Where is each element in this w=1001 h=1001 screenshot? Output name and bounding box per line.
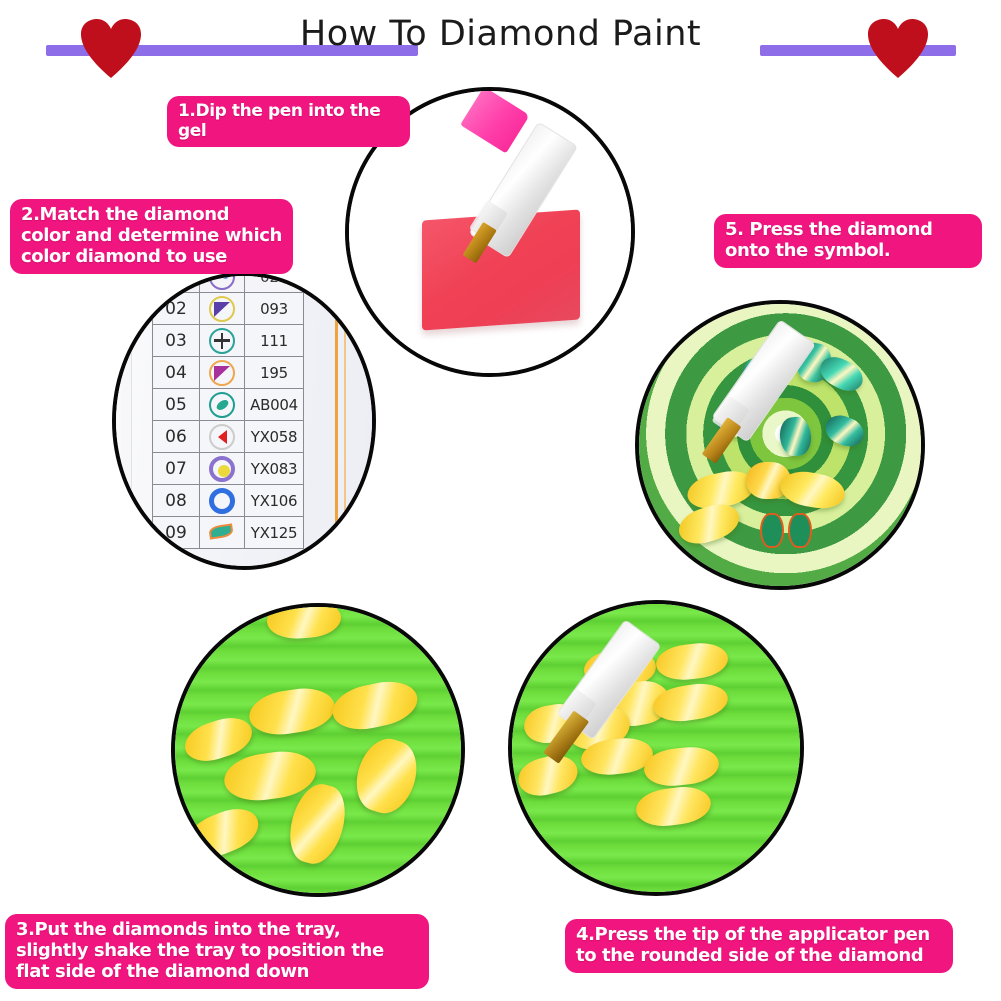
plus-vertical xyxy=(221,333,224,349)
photo-chart: 02802093031110419505AB00406YX05807YX0830… xyxy=(112,272,376,570)
table-row: 02093 xyxy=(153,293,304,325)
photo-tray xyxy=(171,603,465,897)
blue-ring-symbol xyxy=(209,488,235,514)
symbol-row-code: 093 xyxy=(245,293,304,325)
table-row: 04195 xyxy=(153,357,304,389)
magenta-triangle-symbol xyxy=(209,360,235,386)
symbol-row-glyph xyxy=(200,389,245,421)
chart-orange-line xyxy=(335,276,338,566)
leaf-glyph xyxy=(208,523,234,539)
step-label-4: 4.Press the tip of the applicator pen to… xyxy=(565,919,953,973)
photo-pickup xyxy=(508,600,804,896)
teal-oval-symbol xyxy=(209,392,235,418)
triangle-glyph xyxy=(214,366,230,381)
table-row: 06YX058 xyxy=(153,421,304,453)
symbol-row-glyph xyxy=(200,272,245,293)
page-header: How To Diamond Paint xyxy=(0,0,1001,88)
symbol-row-code: AB004 xyxy=(245,389,304,421)
teal-leaf-symbol xyxy=(209,520,235,546)
symbol-row-number: 07 xyxy=(153,453,200,485)
symbol-row-glyph xyxy=(200,293,245,325)
table-row: 07YX083 xyxy=(153,453,304,485)
symbol-row-code: 111 xyxy=(245,325,304,357)
symbol-row-glyph xyxy=(200,485,245,517)
chart-orange-line-2 xyxy=(344,276,346,566)
oval-glyph xyxy=(215,397,230,411)
symbol-row-code: 028 xyxy=(245,272,304,293)
symbol-row-number: 03 xyxy=(153,325,200,357)
red-arrow-symbol xyxy=(209,424,235,450)
table-row: 03111 xyxy=(153,325,304,357)
symbol-row-glyph xyxy=(200,453,245,485)
symbol-row-glyph xyxy=(200,357,245,389)
yellow-dot-ring-symbol xyxy=(209,456,235,482)
symbol-row-glyph xyxy=(200,517,245,549)
triangle-glyph xyxy=(214,302,230,317)
purple-triangle-symbol xyxy=(209,296,235,322)
plus-circle-symbol xyxy=(209,328,235,354)
double-dot-circle-symbol xyxy=(209,272,235,290)
chart-paper-edge xyxy=(121,276,132,566)
page-title: How To Diamond Paint xyxy=(0,14,1001,54)
step-label-1: 1.Dip the pen into the gel xyxy=(167,96,410,147)
step-label-5: 5. Press the diamond onto the symbol. xyxy=(714,214,982,268)
symbol-row-glyph xyxy=(200,325,245,357)
symbol-row-number: 02 xyxy=(153,293,200,325)
symbol-row-code: YX106 xyxy=(245,485,304,517)
symbol-row-number: 09 xyxy=(153,517,200,549)
table-row: 05AB004 xyxy=(153,389,304,421)
symbol-row-code: YX083 xyxy=(245,453,304,485)
mandala-leaf-1 xyxy=(760,513,784,548)
symbol-row-number: 05 xyxy=(153,389,200,421)
arrow-glyph xyxy=(218,430,227,444)
symbol-row-glyph xyxy=(200,421,245,453)
step-label-3: 3.Put the diamonds into the tray, slight… xyxy=(5,914,429,989)
symbol-row-number xyxy=(153,272,200,293)
symbol-row-code: YX058 xyxy=(245,421,304,453)
symbol-row-code: 195 xyxy=(245,357,304,389)
symbol-row-code: YX125 xyxy=(245,517,304,549)
dot-glyph xyxy=(218,465,230,477)
symbol-row-number: 08 xyxy=(153,485,200,517)
mandala-leaf-2 xyxy=(788,513,812,548)
step-label-2: 2.Match the diamond color and determine … xyxy=(10,199,293,274)
symbol-row-number: 04 xyxy=(153,357,200,389)
color-symbol-table: 02802093031110419505AB00406YX05807YX0830… xyxy=(152,272,304,549)
table-row: 08YX106 xyxy=(153,485,304,517)
symbol-row-number: 06 xyxy=(153,421,200,453)
photo-mandala xyxy=(635,300,925,590)
table-row: 028 xyxy=(153,272,304,293)
table-row: 09YX125 xyxy=(153,517,304,549)
